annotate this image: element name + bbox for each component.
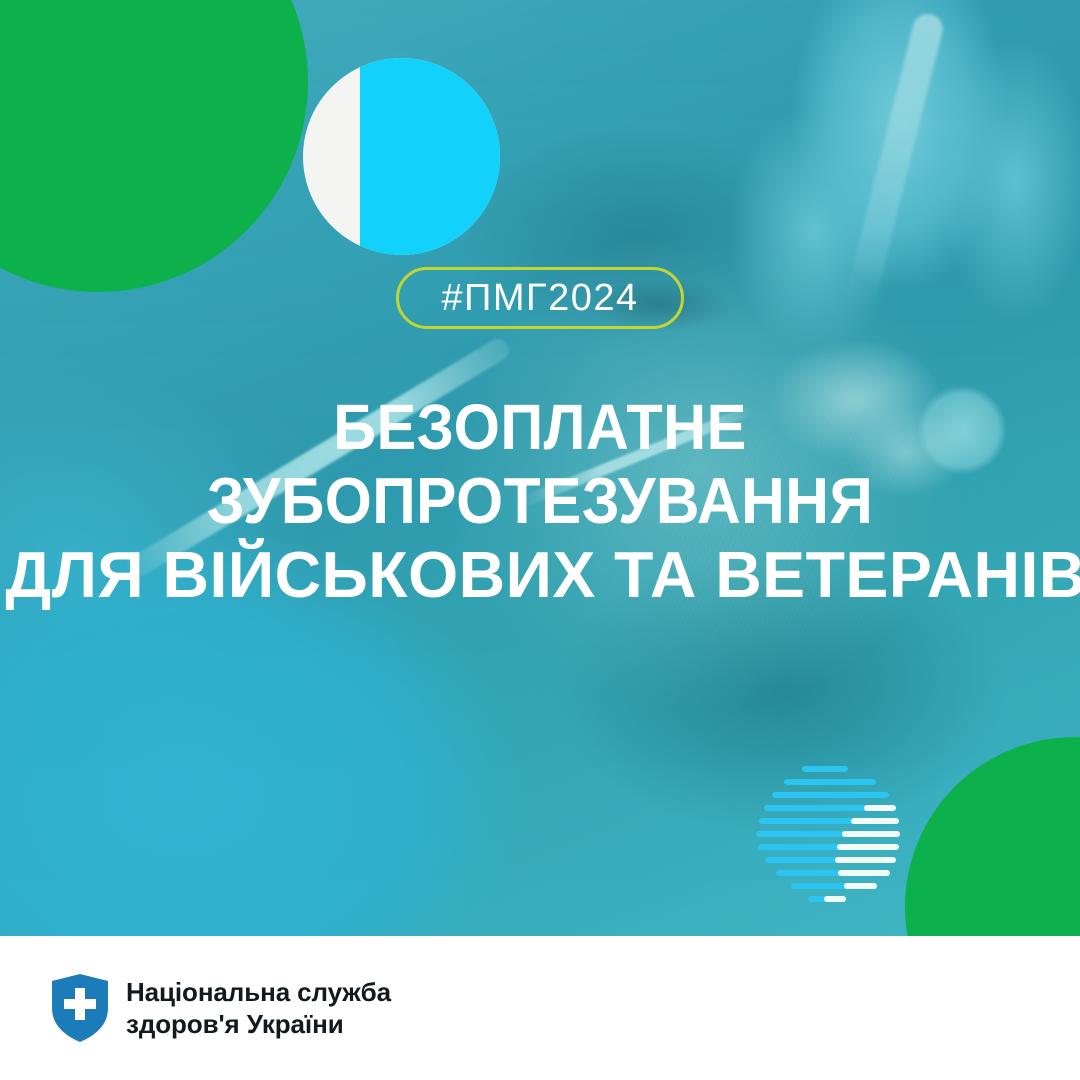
campaign-hashtag-text: #ПМГ2024 — [441, 277, 638, 320]
organization-logo: Національна службаздоров'я України — [52, 974, 391, 1042]
organization-name-line-1: Національна служба — [126, 977, 391, 1007]
striped-lens-decoration — [756, 766, 932, 902]
shield-cross-icon — [52, 974, 108, 1042]
organization-name-line-2: здоров'я України — [126, 1009, 344, 1039]
hero-image-area: #ПМГ2024 БЕЗОПЛАТНЕ ЗУБОПРОТЕЗУВАННЯ ДЛЯ… — [0, 0, 1080, 936]
headline-line-2: ЗУБОПРОТЕЗУВАННЯ — [38, 464, 1042, 538]
campaign-hashtag-badge: #ПМГ2024 — [396, 267, 684, 329]
headline-line-1: БЕЗОПЛАТНЕ — [38, 390, 1042, 464]
footer-bar: Національна службаздоров'я України — [0, 936, 1080, 1080]
organization-name: Національна службаздоров'я України — [126, 976, 391, 1040]
headline-line-3: ДЛЯ ВІЙСЬКОВИХ ТА ВЕТЕРАНІВ — [5, 538, 1074, 612]
poster-root: #ПМГ2024 БЕЗОПЛАТНЕ ЗУБОПРОТЕЗУВАННЯ ДЛЯ… — [0, 0, 1080, 1080]
page-title: БЕЗОПЛАТНЕ ЗУБОПРОТЕЗУВАННЯ ДЛЯ ВІЙСЬКОВ… — [0, 390, 1080, 612]
